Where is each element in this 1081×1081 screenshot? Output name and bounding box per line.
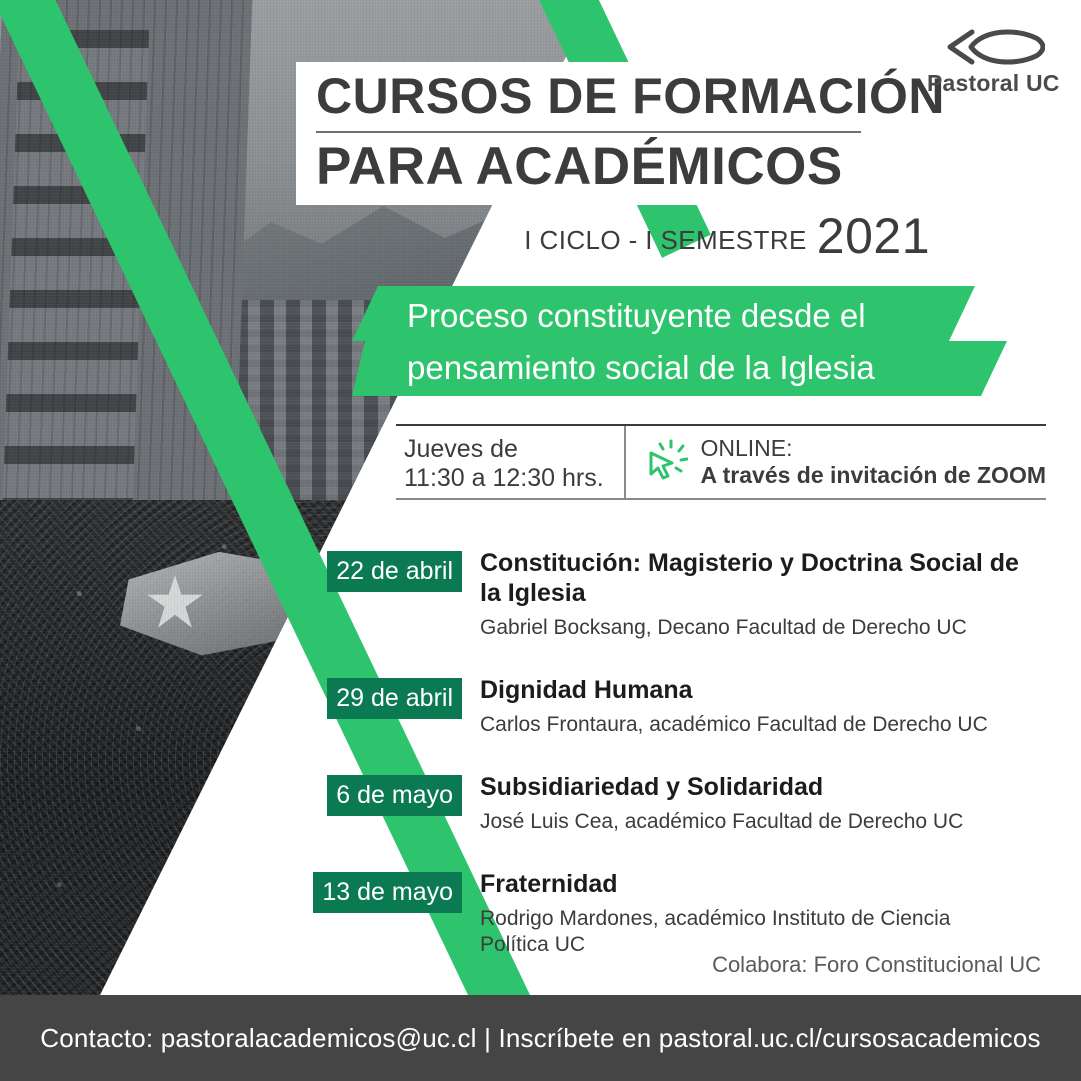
session-date-badge: 22 de abril [327, 551, 462, 592]
cycle-year-row: I CICLO - I SEMESTRE 2021 [540, 200, 930, 262]
session-item: 6 de mayo Subsidiariedad y Solidaridad J… [322, 772, 1022, 835]
session-speaker: José Luis Cea, académico Facultad de Der… [480, 809, 1022, 835]
page-title-line2: PARA ACADÉMICOS [316, 134, 843, 200]
session-date-column: 22 de abril [322, 548, 462, 592]
footer-contact-text: Contacto: pastoralacademicos@uc.cl | Ins… [40, 1023, 1040, 1054]
fish-ichthys-icon [941, 26, 1045, 68]
session-item: 22 de abril Constitución: Magisterio y D… [322, 548, 1022, 641]
collaborator-label: Colabora: Foro Constitucional UC [712, 952, 1041, 978]
session-body: Dignidad Humana Carlos Frontaura, académ… [462, 675, 1022, 738]
banner-text: Proceso constituyente desde el pensamien… [407, 290, 987, 394]
schedule-day: Jueves de [404, 435, 624, 464]
schedule-bar: Jueves de 11:30 a 12:30 hrs. ONLINE: A t… [396, 424, 1046, 500]
session-title: Constitución: Magisterio y Doctrina Soci… [480, 548, 1022, 608]
session-date-badge: 29 de abril [327, 678, 462, 719]
session-body: Fraternidad Rodrigo Mardones, académico … [462, 869, 1022, 958]
sessions-list: 22 de abril Constitución: Magisterio y D… [322, 548, 1022, 958]
cursor-click-icon [642, 439, 688, 485]
year-label: 2021 [817, 210, 930, 262]
schedule-time: 11:30 a 12:30 hrs. [404, 464, 624, 493]
cycle-label: I CICLO - I SEMESTRE [524, 225, 807, 262]
page-title-line1: CURSOS DE FORMACIÓN [316, 66, 945, 126]
session-date-column: 29 de abril [322, 675, 462, 719]
session-speaker: Carlos Frontaura, académico Facultad de … [480, 712, 1022, 738]
course-title-banner: Proceso constituyente desde el pensamien… [352, 286, 1012, 396]
banner-line2: pensamiento social de la Iglesia [407, 342, 987, 394]
session-date-column: 6 de mayo [322, 772, 462, 816]
session-body: Subsidiariedad y Solidaridad José Luis C… [462, 772, 1022, 835]
title-block: CURSOS DE FORMACIÓN PARA ACADÉMICOS [296, 62, 876, 205]
session-title: Fraternidad [480, 869, 1022, 899]
poster-root: Pastoral UC CURSOS DE FORMACIÓN PARA ACA… [0, 0, 1081, 1081]
session-title: Subsidiariedad y Solidaridad [480, 772, 1022, 802]
session-item: 13 de mayo Fraternidad Rodrigo Mardones,… [322, 869, 1022, 958]
session-date-badge: 13 de mayo [313, 872, 462, 913]
schedule-time-block: Jueves de 11:30 a 12:30 hrs. [396, 426, 626, 498]
schedule-online-block: ONLINE: A través de invitación de ZOOM [626, 426, 1046, 498]
session-date-column: 13 de mayo [322, 869, 462, 913]
session-body: Constitución: Magisterio y Doctrina Soci… [462, 548, 1022, 641]
session-date-badge: 6 de mayo [327, 775, 462, 816]
online-detail: A través de invitación de ZOOM [700, 462, 1046, 489]
session-item: 29 de abril Dignidad Humana Carlos Front… [322, 675, 1022, 738]
session-speaker: Gabriel Bocksang, Decano Facultad de Der… [480, 615, 1022, 641]
session-title: Dignidad Humana [480, 675, 1022, 705]
session-speaker: Rodrigo Mardones, académico Instituto de… [480, 906, 1022, 958]
online-text-group: ONLINE: A través de invitación de ZOOM [700, 435, 1046, 489]
online-label: ONLINE: [700, 435, 1046, 462]
title-divider [316, 131, 861, 133]
footer-bar: Contacto: pastoralacademicos@uc.cl | Ins… [0, 995, 1081, 1081]
logo-text: Pastoral UC [927, 70, 1059, 97]
banner-line1: Proceso constituyente desde el [407, 290, 987, 342]
pastoral-uc-logo: Pastoral UC [927, 26, 1059, 97]
